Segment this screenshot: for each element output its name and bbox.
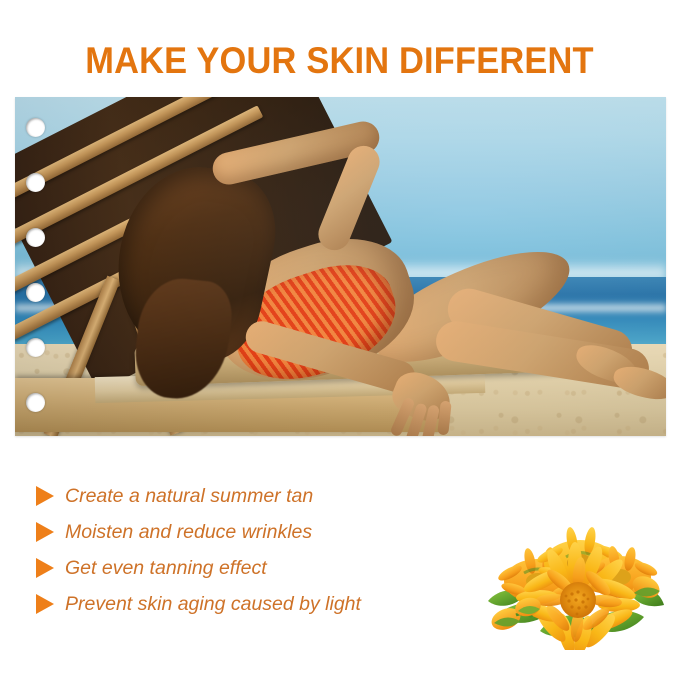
hero-scene [15, 97, 666, 436]
benefits-list: Create a natural summer tan Moisten and … [36, 478, 486, 622]
punch-hole [26, 173, 45, 192]
hero-photo [15, 97, 666, 436]
benefit-item: Get even tanning effect [36, 550, 486, 586]
flower-illustration [480, 515, 670, 650]
triangle-bullet-icon [36, 558, 54, 578]
punch-hole [26, 283, 45, 302]
punch-hole [26, 118, 45, 137]
page-title: MAKE YOUR SKIN DIFFERENT [24, 40, 655, 82]
benefit-label: Create a natural summer tan [65, 484, 313, 508]
triangle-bullet-icon [36, 486, 54, 506]
punch-hole [26, 393, 45, 412]
benefit-item: Moisten and reduce wrinkles [36, 514, 486, 550]
benefit-item: Prevent skin aging caused by light [36, 586, 486, 622]
benefit-label: Get even tanning effect [65, 556, 267, 580]
punch-hole [26, 338, 45, 357]
promo-page: MAKE YOUR SKIN DIFFERENT [0, 0, 679, 679]
calendula-flowers-image [480, 515, 670, 650]
benefit-label: Prevent skin aging caused by light [65, 592, 361, 616]
punch-hole [26, 228, 45, 247]
triangle-bullet-icon [36, 522, 54, 542]
triangle-bullet-icon [36, 594, 54, 614]
benefit-label: Moisten and reduce wrinkles [65, 520, 312, 544]
benefit-item: Create a natural summer tan [36, 478, 486, 514]
